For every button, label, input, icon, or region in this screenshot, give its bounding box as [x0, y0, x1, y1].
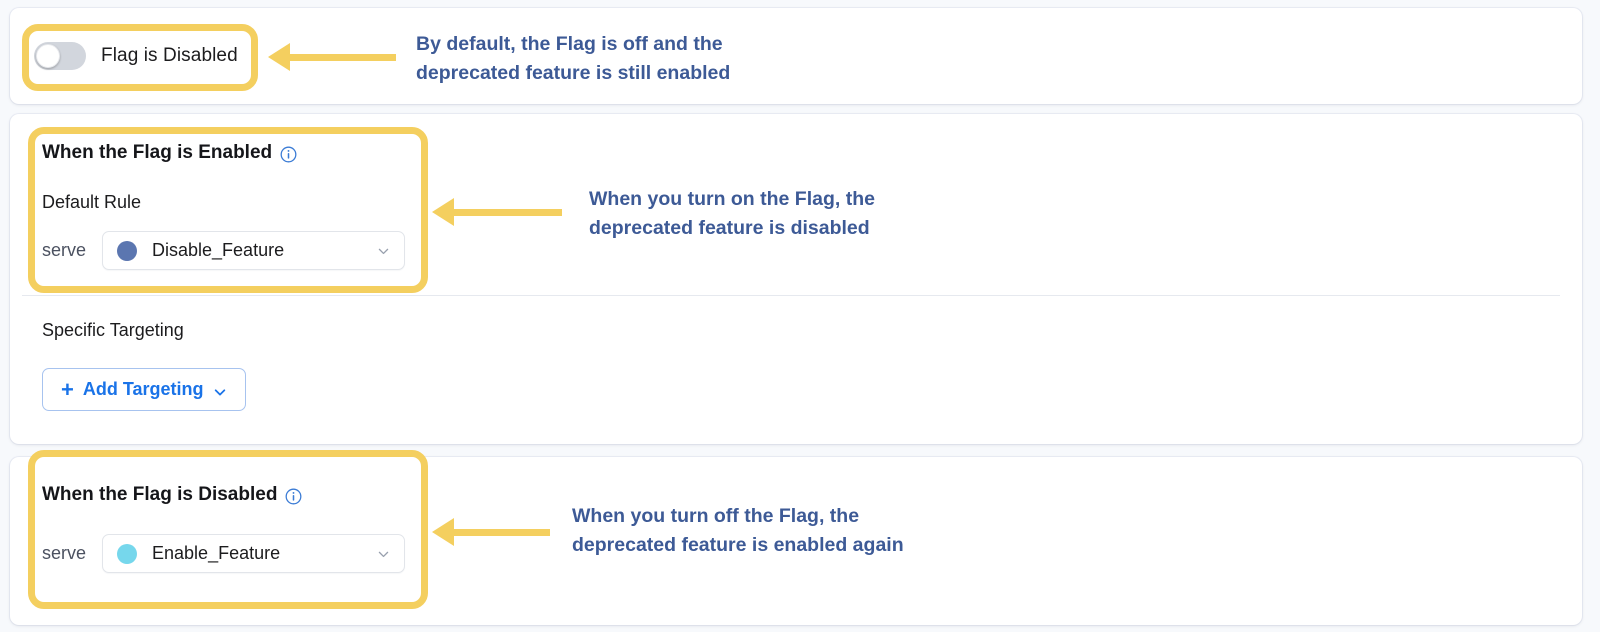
variation-color-dot-enable-feature	[117, 544, 137, 564]
when-flag-enabled-heading-text: When the Flag is Enabled	[42, 142, 272, 164]
arrow-head	[268, 43, 290, 71]
flag-toggle-card	[10, 8, 1582, 104]
chevron-down-icon[interactable]	[377, 244, 390, 257]
serve-value-select-disabled[interactable]: Enable_Feature	[102, 534, 405, 573]
left-arrow-icon	[432, 198, 562, 226]
arrow-head	[432, 198, 454, 226]
flag-toggle-label: Flag is Disabled	[101, 45, 238, 67]
annotation-turn-off: When you turn off the Flag, the deprecat…	[572, 502, 904, 561]
left-arrow-icon	[268, 43, 396, 71]
section-divider	[22, 295, 1560, 296]
screenshot-root: Flag is Disabled When the Flag is Enable…	[0, 0, 1600, 632]
flag-toggle-switch[interactable]	[34, 42, 86, 70]
serve-row-disabled: serve Enable_Feature	[42, 534, 405, 573]
specific-targeting-label: Specific Targeting	[42, 320, 184, 341]
serve-word-enabled: serve	[42, 240, 86, 261]
annotation-default-off: By default, the Flag is off and the depr…	[416, 30, 730, 89]
serve-row-enabled: serve Disable_Feature	[42, 231, 405, 270]
arrow-head	[432, 518, 454, 546]
serve-value-text-disabled: Enable_Feature	[152, 543, 280, 564]
chevron-down-icon[interactable]	[377, 547, 390, 560]
variation-color-dot-disable-feature	[117, 241, 137, 261]
toggle-knob	[36, 44, 60, 68]
when-flag-disabled-heading: When the Flag is Disabled	[42, 484, 302, 506]
left-arrow-icon	[432, 518, 550, 546]
arrow-tail	[452, 209, 562, 216]
default-rule-label: Default Rule	[42, 192, 141, 213]
serve-value-text-enabled: Disable_Feature	[152, 240, 284, 261]
when-flag-enabled-heading: When the Flag is Enabled	[42, 142, 297, 164]
arrow-tail	[288, 54, 396, 61]
annotation-turn-on: When you turn on the Flag, the deprecate…	[589, 185, 875, 244]
when-flag-disabled-heading-text: When the Flag is Disabled	[42, 484, 277, 506]
plus-icon: +	[61, 379, 74, 401]
serve-word-disabled: serve	[42, 543, 86, 564]
flag-toggle-row[interactable]: Flag is Disabled	[34, 42, 238, 70]
add-targeting-button[interactable]: + Add Targeting	[42, 368, 246, 411]
info-circle-icon[interactable]	[280, 146, 297, 163]
chevron-down-icon[interactable]	[213, 383, 227, 397]
arrow-tail	[452, 529, 550, 536]
serve-value-select-enabled[interactable]: Disable_Feature	[102, 231, 405, 270]
info-circle-icon[interactable]	[285, 488, 302, 505]
add-targeting-label: Add Targeting	[83, 379, 204, 400]
